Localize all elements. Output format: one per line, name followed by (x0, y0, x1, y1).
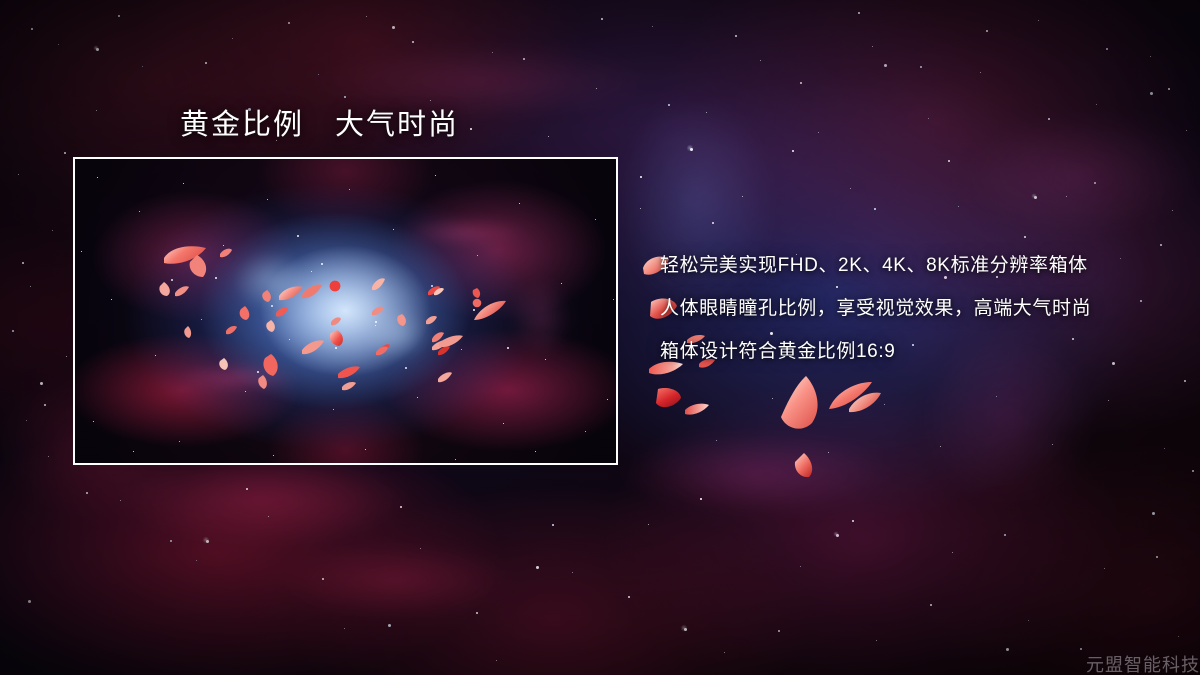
body-copy: 轻松完美实现FHD、2K、4K、8K标准分辨率箱体 人体眼睛瞳孔比例，享受视觉效… (660, 253, 1091, 382)
framed-image (73, 157, 618, 465)
body-line: 箱体设计符合黄金比例16:9 (660, 339, 1091, 382)
slide-canvas: 黄金比例 大气时尚 轻松完美实现FHD、2K、4K、8K标准分辨率箱体 人体眼睛… (0, 0, 1200, 675)
inner-starfield (75, 159, 616, 463)
inner-star-layer-bright (75, 159, 77, 161)
watermark-brand: 元盟智能科技 (1086, 651, 1200, 675)
body-line: 人体眼睛瞳孔比例，享受视觉效果，高端大气时尚 (660, 296, 1091, 339)
page-title: 黄金比例 大气时尚 (180, 101, 459, 143)
body-line: 轻松完美实现FHD、2K、4K、8K标准分辨率箱体 (660, 253, 1091, 296)
